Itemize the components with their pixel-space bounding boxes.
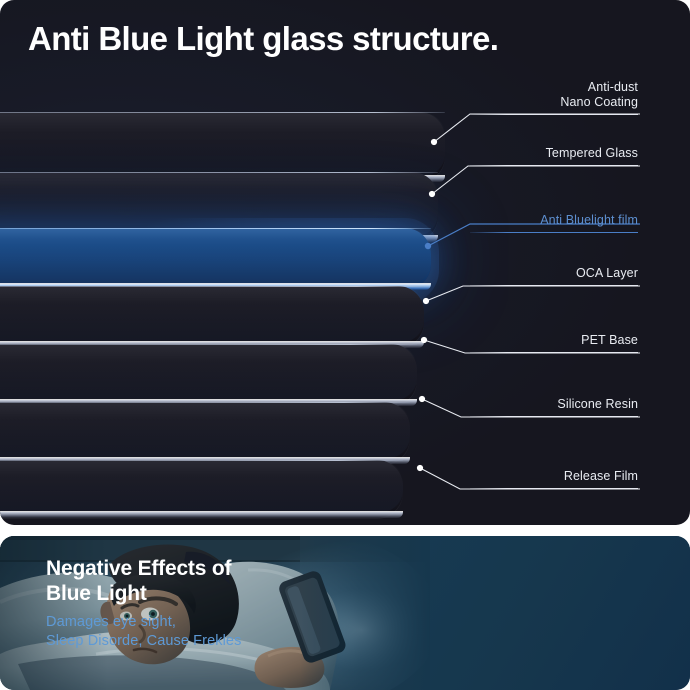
negative-effects-sub-line1: Damages eye sight,	[46, 613, 241, 632]
label-text-line1: PET Base	[470, 333, 638, 348]
label-text-line1: Anti-dust	[470, 80, 638, 95]
negative-effects-heading-line1: Negative Effects of	[46, 556, 241, 581]
label-pet-base: PET Base	[470, 333, 638, 353]
leader-anti-dust-nano-coating	[434, 114, 640, 142]
label-underline	[470, 114, 638, 115]
label-text-line2: Nano Coating	[470, 95, 638, 110]
product-infographic: Anti Blue Light glass structure.	[0, 0, 690, 690]
leader-lines	[0, 0, 690, 525]
label-silicone-resin: Silicone Resin	[470, 397, 638, 417]
negative-effects-heading-line2: Blue Light	[46, 581, 241, 606]
negative-effects-text-background	[398, 536, 690, 690]
label-underline	[470, 488, 638, 489]
label-underline	[470, 285, 638, 286]
photo-fade-overlay	[300, 536, 430, 690]
leader-tempered-glass	[432, 166, 640, 194]
leader-dot-tempered-glass	[429, 191, 435, 197]
leader-dot-anti-bluelight-film	[425, 243, 431, 249]
label-oca-layer: OCA Layer	[470, 266, 638, 286]
leader-dot-anti-dust-nano-coating	[431, 139, 437, 145]
label-underline	[470, 416, 638, 417]
label-underline	[470, 165, 638, 166]
negative-effects-panel: Negative Effects of Blue Light Damages e…	[0, 536, 690, 690]
label-text-line1: OCA Layer	[470, 266, 638, 281]
label-text-line1: Anti Bluelight film	[470, 213, 638, 228]
label-tempered-glass: Tempered Glass	[470, 146, 638, 166]
leader-dot-pet-base	[421, 337, 427, 343]
label-anti-dust-nano-coating: Anti-dust Nano Coating	[470, 80, 638, 115]
label-text-line1: Release Film	[470, 469, 638, 484]
page-title: Anti Blue Light glass structure.	[28, 20, 498, 58]
leader-dot-release-film	[417, 465, 423, 471]
leader-dot-silicone-resin	[419, 396, 425, 402]
label-underline	[470, 232, 638, 233]
negative-effects-copy: Negative Effects of Blue Light Damages e…	[46, 556, 241, 651]
glass-structure-card: Anti Blue Light glass structure.	[0, 0, 690, 525]
leader-oca-layer	[426, 286, 640, 301]
label-text-line1: Tempered Glass	[470, 146, 638, 161]
negative-effects-sub-line2: Sleep Disorde, Cause Frekles	[46, 632, 241, 651]
label-anti-bluelight-film: Anti Bluelight film	[470, 213, 638, 233]
label-release-film: Release Film	[470, 469, 638, 489]
label-underline	[470, 352, 638, 353]
label-text-line1: Silicone Resin	[470, 397, 638, 412]
leader-dot-oca-layer	[423, 298, 429, 304]
